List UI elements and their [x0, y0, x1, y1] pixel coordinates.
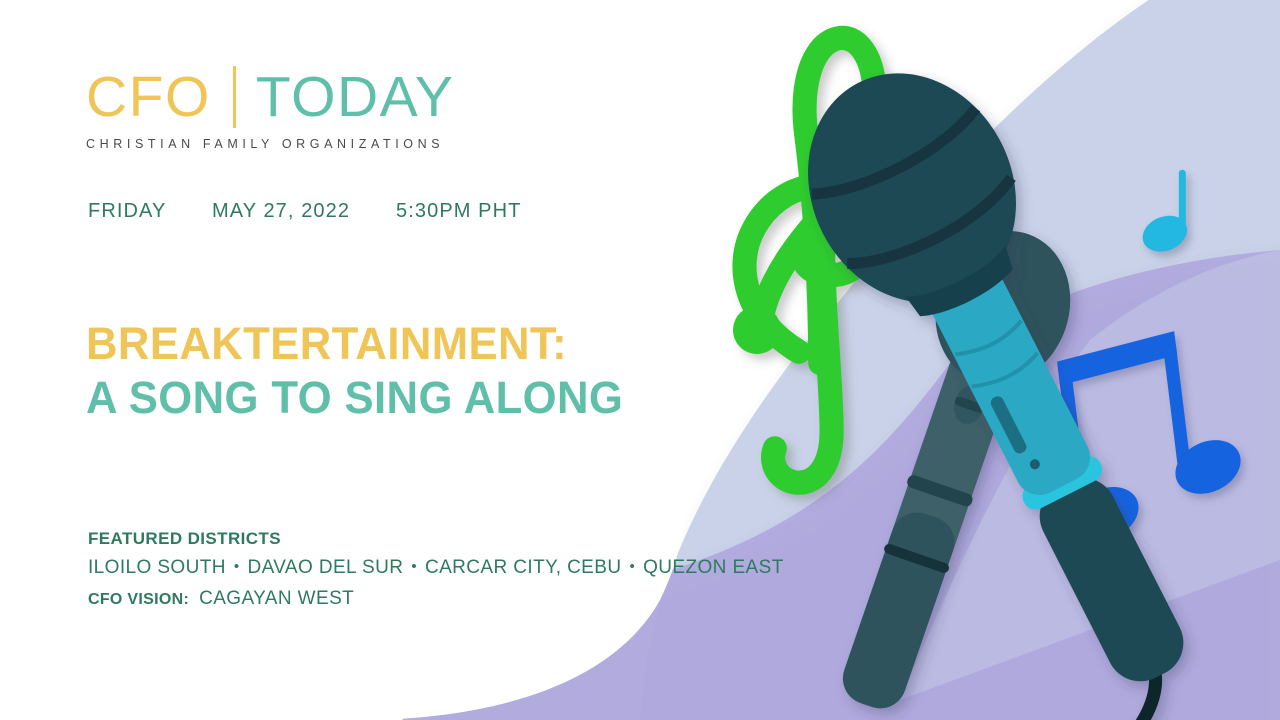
- district-name: DAVAO DEL SUR: [247, 557, 403, 578]
- event-day: FRIDAY: [88, 200, 212, 223]
- promotional-poster: CFO TODAY CHRISTIAN FAMILY ORGANIZATIONS…: [0, 0, 1280, 720]
- cfo-vision-label: CFO VISION:: [88, 591, 189, 609]
- cfo-vision-value: CAGAYAN WEST: [199, 588, 354, 610]
- district-name: ILOILO SOUTH: [88, 557, 226, 578]
- district-name: CARCAR CITY, CEBU: [425, 557, 622, 578]
- headline-line-1: BREAKTERTAINMENT:: [86, 320, 623, 369]
- event-headline: BREAKTERTAINMENT: A SONG TO SING ALONG: [86, 320, 640, 422]
- logo-today-text: TODAY: [256, 69, 455, 126]
- district-separator: •: [629, 558, 635, 575]
- event-datetime: FRIDAY MAY 27, 2022 5:30PM PHT: [88, 200, 521, 223]
- district-name: QUEZON EAST: [643, 557, 784, 578]
- featured-districts-block: FEATURED DISTRICTS ILOILO SOUTH•DAVAO DE…: [88, 529, 784, 610]
- district-separator: •: [234, 558, 240, 575]
- event-date: MAY 27, 2022: [212, 200, 396, 223]
- cfo-vision-row: CFO VISION: CAGAYAN WEST: [88, 588, 784, 610]
- logo-tagline: CHRISTIAN FAMILY ORGANIZATIONS: [86, 137, 454, 151]
- brand-logo: CFO TODAY CHRISTIAN FAMILY ORGANIZATIONS: [86, 66, 454, 151]
- headline-line-2: A SONG TO SING ALONG: [86, 374, 623, 423]
- logo-wordmark: CFO TODAY: [86, 66, 454, 128]
- district-separator: •: [411, 558, 417, 575]
- logo-cfo-text: CFO: [86, 69, 211, 126]
- logo-divider: [233, 66, 236, 128]
- event-time: 5:30PM PHT: [396, 200, 521, 223]
- featured-districts-list: ILOILO SOUTH•DAVAO DEL SUR•CARCAR CITY, …: [88, 557, 784, 579]
- featured-districts-heading: FEATURED DISTRICTS: [88, 529, 784, 549]
